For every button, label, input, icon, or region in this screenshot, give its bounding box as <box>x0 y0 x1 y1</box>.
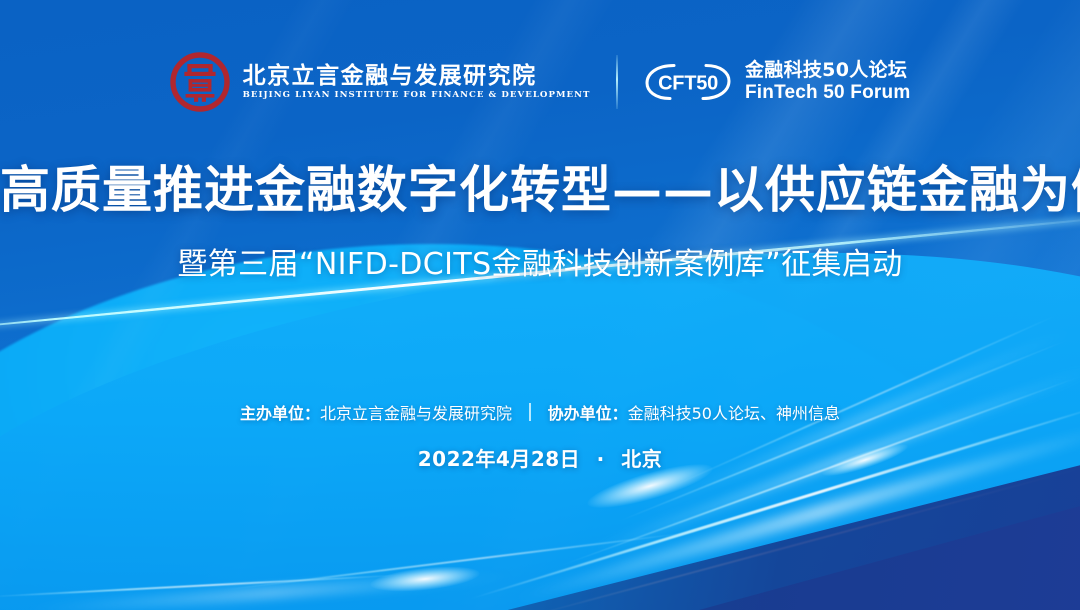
liyan-name-block: 北京立言金融与发展研究院 BEIJING LIYAN INSTITUTE FOR… <box>243 65 591 100</box>
poster-content: 北京立言金融与发展研究院 BEIJING LIYAN INSTITUTE FOR… <box>0 0 1080 610</box>
cft50-name-block: 金融科技50人论坛 FinTech 50 Forum <box>745 61 910 103</box>
cft50-mark-text: CFT50 <box>658 73 718 95</box>
organizers-row: 主办单位： 北京立言金融与发展研究院 协办单位： 金融科技50人论坛、神州信息 <box>0 400 1080 424</box>
liyan-name-en: BEIJING LIYAN INSTITUTE FOR FINANCE & DE… <box>243 91 591 100</box>
liyan-institute-logo: 北京立言金融与发展研究院 BEIJING LIYAN INSTITUTE FOR… <box>170 52 591 112</box>
cohost-organizer: 协办单位： 金融科技50人论坛、神州信息 <box>548 400 840 424</box>
event-city: 北京 <box>621 447 662 471</box>
event-datetime-location: 2022年4月28日 · 北京 <box>0 443 1080 472</box>
organizers-separator <box>529 403 531 421</box>
page-title: 高质量推进金融数字化转型——以供应链金融为例 <box>0 160 1080 219</box>
logo-divider <box>616 55 618 109</box>
host-organizer: 主办单位： 北京立言金融与发展研究院 <box>240 400 512 424</box>
host-organizer-label: 主办单位： <box>240 400 320 424</box>
host-organizer-value: 北京立言金融与发展研究院 <box>320 400 512 424</box>
event-date: 2022年4月28日 <box>418 447 580 471</box>
logo-bar: 北京立言金融与发展研究院 BEIJING LIYAN INSTITUTE FOR… <box>0 52 1080 112</box>
cft50-name-en: FinTech 50 Forum <box>745 83 910 103</box>
event-dot-separator: · <box>588 447 614 471</box>
event-poster: 北京立言金融与发展研究院 BEIJING LIYAN INSTITUTE FOR… <box>0 0 1080 610</box>
cohost-organizer-value: 金融科技50人论坛、神州信息 <box>628 400 840 424</box>
liyan-name-cn: 北京立言金融与发展研究院 <box>243 65 591 88</box>
cft50-name-cn: 金融科技50人论坛 <box>745 61 910 81</box>
cft50-logo: CFT50 金融科技50人论坛 FinTech 50 Forum <box>644 59 910 105</box>
cohost-organizer-label: 协办单位： <box>548 400 628 424</box>
liyan-seal-icon <box>170 52 230 112</box>
page-subtitle: 暨第三届“NIFD-DCITS金融科技创新案例库”征集启动 <box>0 246 1080 284</box>
cft50-oval-icon: CFT50 <box>644 59 732 105</box>
